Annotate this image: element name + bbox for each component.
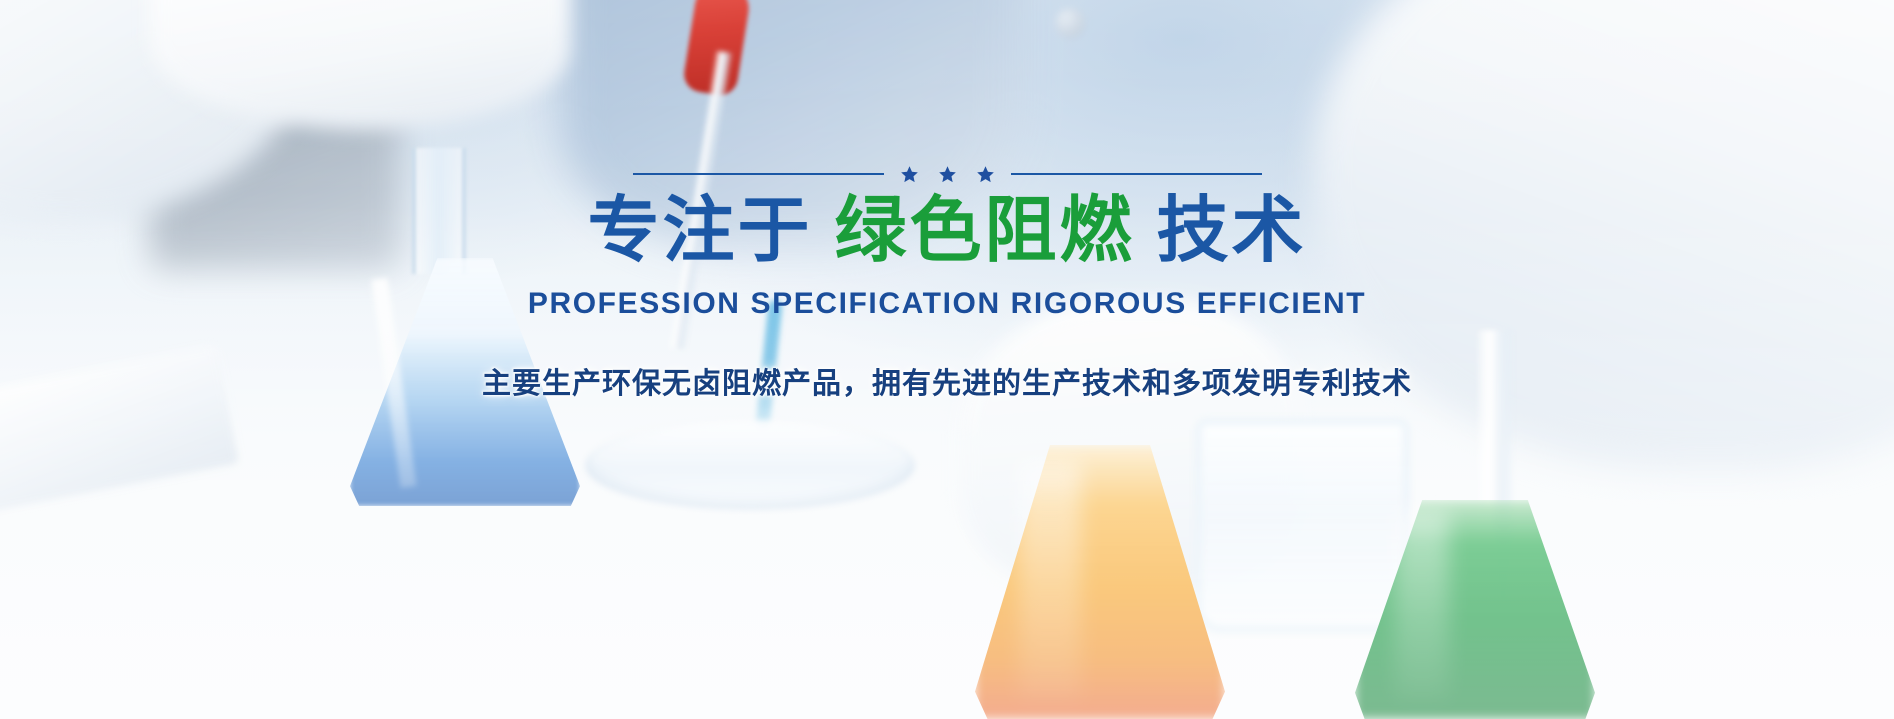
star-icon	[976, 165, 995, 184]
star-icon	[900, 165, 919, 184]
decorative-divider	[0, 163, 1894, 185]
divider-stars	[900, 165, 995, 184]
divider-rule-right	[1011, 173, 1262, 175]
banner-content: 专注于绿色阻燃技术 PROFESSION SPECIFICATION RIGOR…	[0, 163, 1894, 402]
headline-segment-3: 技术	[1157, 191, 1307, 271]
hero-banner: 专注于绿色阻燃技术 PROFESSION SPECIFICATION RIGOR…	[0, 0, 1894, 719]
headline-subtitle: PROFESSION SPECIFICATION RIGOROUS EFFICI…	[0, 287, 1894, 321]
divider-rule-left	[633, 173, 884, 175]
star-icon	[938, 165, 957, 184]
headline: 专注于绿色阻燃技术	[0, 193, 1894, 271]
banner-tagline: 主要生产环保无卤阻燃产品，拥有先进的生产技术和多项发明专利技术	[0, 360, 1894, 402]
headline-segment-1: 专注于	[587, 191, 812, 271]
headline-segment-2: 绿色阻燃	[834, 191, 1134, 271]
